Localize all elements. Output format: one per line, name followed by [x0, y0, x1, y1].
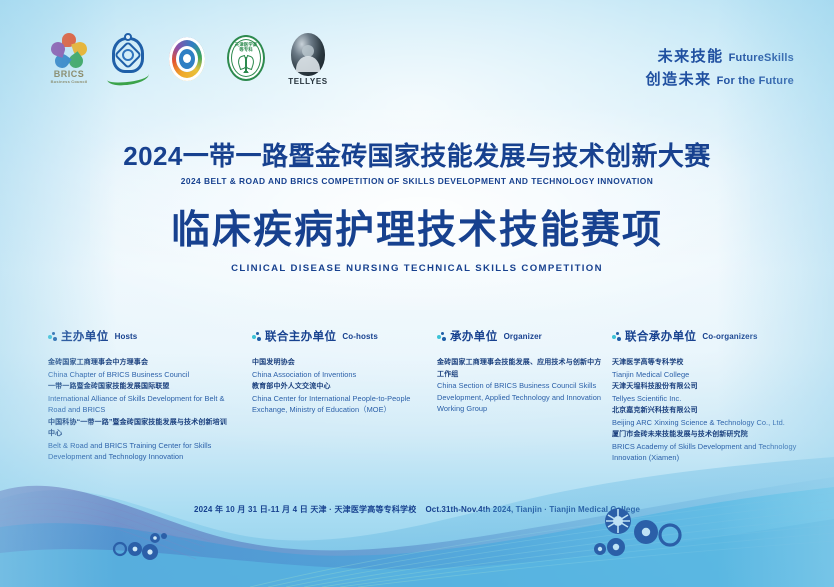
org-entry-cn: 北京嘉克新兴科技有限公司: [612, 405, 802, 417]
brics-logo-subtext: Business Council: [46, 79, 92, 84]
slogan-line-2: 创造未来For the Future: [646, 69, 794, 92]
gear-cluster-left-icon: [110, 530, 170, 564]
event-subtitle-en: CLINICAL DISEASE NURSING TECHNICAL SKILL…: [0, 261, 834, 277]
org-header-cn: 主办单位: [61, 328, 109, 344]
org-entry-en: China Center for International People-to…: [252, 393, 427, 416]
competition-poster: BRICS Business Council 天津医学高等专科 TELLYES …: [0, 0, 834, 587]
slogan-line-1-cn: 未来技能: [658, 48, 724, 65]
org-entry-en: International Alliance of Skills Develop…: [48, 393, 228, 416]
org-header-en: Hosts: [115, 332, 138, 341]
slogan-line-1-en: FutureSkills: [729, 52, 794, 64]
org-entry-cn: 中国科协“一带一路”暨金砖国家技能发展与技术创新培训中心: [48, 417, 228, 440]
slogan-line-2-en: For the Future: [717, 75, 794, 87]
org-entry-cn: 厦门市金砖未来技能发展与技术创新研究院: [612, 429, 802, 441]
org-header-en: Co-organizers: [702, 332, 757, 341]
slogan-line-1: 未来技能FutureSkills: [646, 46, 794, 69]
org-entry-cn: 天津天堭科技股份有限公司: [612, 381, 802, 393]
org-column-co-organizers: 联合承办单位 Co-organizers 天津医学高等专科学校 Tianjin …: [612, 328, 802, 465]
bullet-dots-icon: [437, 332, 446, 341]
moe-people-exchange-logo: [164, 33, 210, 91]
org-entry-en: China Association of Inventions: [252, 369, 427, 381]
org-entry-en: China Section of BRICS Business Council …: [437, 380, 605, 415]
brics-logo-wordmark: BRICS: [46, 70, 92, 79]
org-entry-cn: 天津医学高等专科学校: [612, 357, 802, 369]
org-entry-cn: 教育部中外人文交流中心: [252, 381, 427, 393]
org-entry-en: China Chapter of BRICS Business Council: [48, 369, 228, 381]
org-column-hosts-header: 主办单位 Hosts: [48, 328, 228, 344]
event-title-cn: 2024一带一路暨金砖国家技能发展与技术创新大赛: [0, 140, 834, 172]
slogan-line-2-cn: 创造未来: [646, 71, 712, 88]
international-alliance-logo: [105, 33, 151, 91]
tianjin-medical-college-logo: 天津医学高等专科: [223, 33, 269, 91]
brics-petal-mark: [49, 33, 89, 69]
org-header-cn: 联合承办单位: [625, 328, 696, 344]
org-column-organizer: 承办单位 Organizer 金砖国家工商理事会技能发展、应用技术与创新中方工作…: [437, 328, 605, 416]
org-entry-en: Tellyes Scientific Inc.: [612, 393, 802, 405]
org-header-cn: 联合主办单位: [265, 328, 336, 344]
bullet-dots-icon: [48, 332, 57, 341]
bullet-dots-icon: [612, 332, 621, 341]
org-column-co-hosts-header: 联合主办单位 Co-hosts: [252, 328, 427, 344]
tellyes-logo: TELLYES: [282, 33, 334, 91]
org-entry-cn: 一带一路暨金砖国家技能发展国际联盟: [48, 381, 228, 393]
bullet-dots-icon: [252, 332, 261, 341]
partner-logo-row: BRICS Business Council 天津医学高等专科 TELLYES: [46, 33, 334, 91]
org-entry-en: Tianjin Medical College: [612, 369, 802, 381]
poster-headline: 2024一带一路暨金砖国家技能发展与技术创新大赛 2024 BELT & ROA…: [0, 140, 834, 277]
wave-decoration: [0, 457, 834, 587]
org-column-organizer-header: 承办单位 Organizer: [437, 328, 605, 344]
org-entry-cn: 金砖国家工商理事会技能发展、应用技术与创新中方工作组: [437, 357, 605, 380]
event-subtitle-cn: 临床疾病护理技术技能赛项: [0, 205, 834, 257]
org-entry-cn: 中国发明协会: [252, 357, 427, 369]
org-entry-cn: 金砖国家工商理事会中方理事会: [48, 357, 228, 369]
org-header-en: Co-hosts: [342, 332, 377, 341]
org-entry-en: Beijing ARC Xinxing Science & Technology…: [612, 417, 802, 429]
tellyes-logo-wordmark: TELLYES: [282, 77, 334, 86]
event-title-en: 2024 BELT & ROAD AND BRICS COMPETITION O…: [0, 174, 834, 188]
org-column-co-hosts: 联合主办单位 Co-hosts 中国发明协会 China Association…: [252, 328, 427, 417]
org-column-hosts: 主办单位 Hosts 金砖国家工商理事会中方理事会 China Chapter …: [48, 328, 228, 464]
brics-business-council-logo: BRICS Business Council: [46, 33, 92, 91]
gear-cluster-right-icon: [590, 505, 690, 563]
org-header-en: Organizer: [504, 332, 542, 341]
org-header-cn: 承办单位: [450, 328, 498, 344]
org-column-co-organizers-header: 联合承办单位 Co-organizers: [612, 328, 802, 344]
future-skills-slogan: 未来技能FutureSkills 创造未来For the Future: [646, 46, 794, 92]
